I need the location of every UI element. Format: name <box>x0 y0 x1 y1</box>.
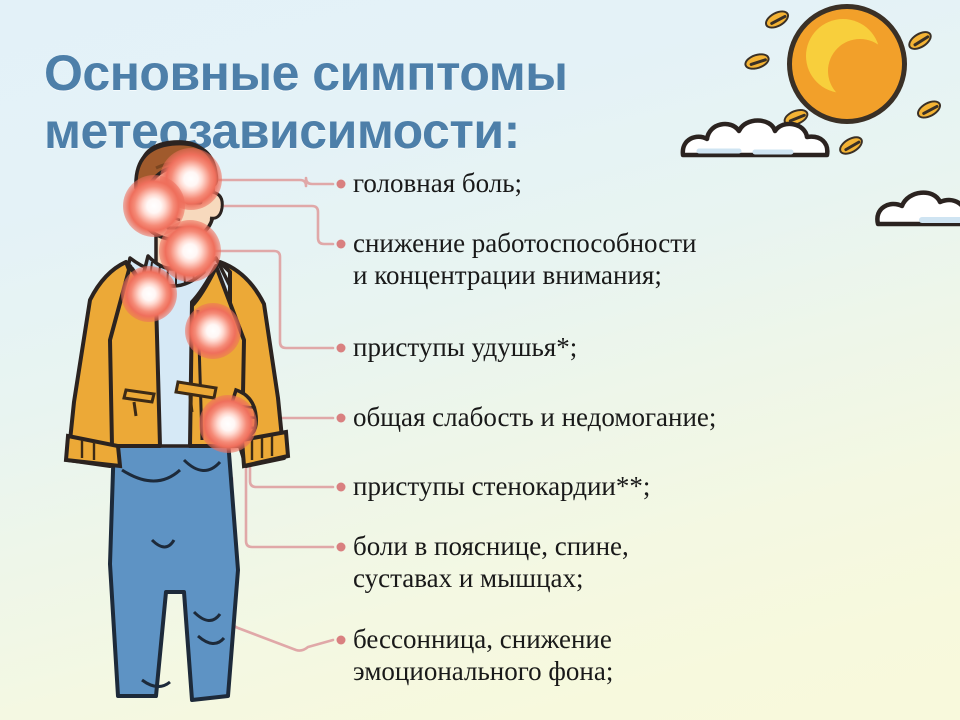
infographic-poster: Основные симптомы метеозависимости: <box>0 0 960 720</box>
jeans <box>110 440 238 700</box>
symptom-item-4: общая слабость и недомогание; <box>341 401 716 433</box>
symptom-item-5: приступы стенокардии**; <box>341 470 650 502</box>
symptom-list: головная боль;снижение работоспособности… <box>341 0 960 720</box>
head <box>136 142 222 240</box>
symptom-item-6: боли в пояснице, спине, суставах и мышца… <box>341 530 629 594</box>
symptom-item-7: бессонница, снижение эмоционального фона… <box>341 623 613 687</box>
symptom-item-2: снижение работоспособности и концентраци… <box>341 227 696 291</box>
person-illustration <box>52 140 342 720</box>
symptom-item-1: головная боль; <box>341 167 522 199</box>
symptom-item-3: приступы удушья*; <box>341 331 577 363</box>
